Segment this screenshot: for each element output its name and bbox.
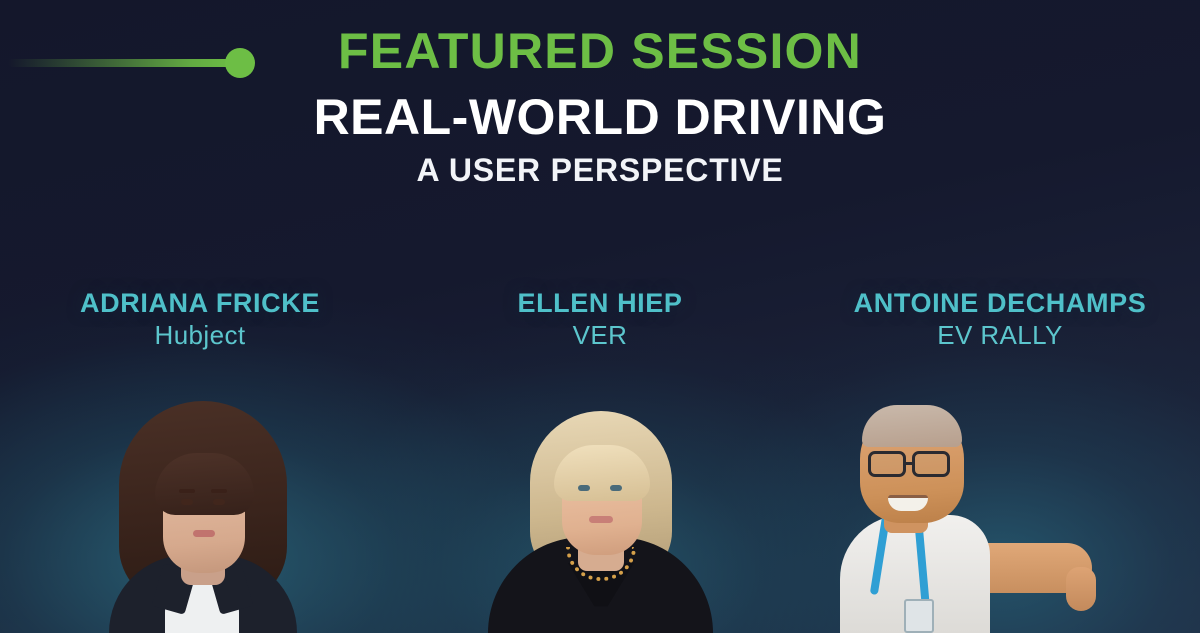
fringe-shape — [155, 453, 254, 515]
speaker-list: ADRIANA FRICKE Hubject — [0, 288, 1200, 633]
fringe-shape — [554, 445, 650, 501]
eye-right — [610, 485, 622, 491]
speaker-organization: Hubject — [0, 320, 400, 351]
hair-shape — [862, 405, 962, 447]
glasses-lens-right — [912, 451, 950, 477]
avatar-adriana-fricke — [95, 387, 310, 633]
eye-right — [213, 499, 225, 505]
avatar-antoine-dechamps — [840, 395, 1110, 633]
mouth-shape — [193, 530, 215, 537]
eye-left — [578, 485, 590, 491]
speaker-card-antoine-dechamps: ANTOINE DECHAMPS EV RALLY — [800, 288, 1200, 633]
glasses-lens-left — [868, 451, 906, 477]
mouth-shape — [888, 495, 928, 511]
speaker-portrait — [0, 373, 400, 633]
speaker-card-ellen-hiep: ELLEN HIEP VER — [400, 288, 800, 633]
speaker-name: ELLEN HIEP — [400, 288, 800, 319]
speaker-organization: EV RALLY — [800, 320, 1200, 351]
eye-left — [181, 499, 193, 505]
speaker-portrait — [800, 373, 1200, 633]
kicker-label: FEATURED SESSION — [0, 24, 1200, 78]
mouth-shape — [589, 516, 613, 523]
hand-shape — [1066, 567, 1096, 611]
eyebrow-left — [179, 489, 195, 493]
speaker-name: ADRIANA FRICKE — [0, 288, 400, 319]
page-subtitle: A USER PERSPECTIVE — [0, 153, 1200, 188]
page-title: REAL-WORLD DRIVING — [0, 90, 1200, 145]
speaker-name: ANTOINE DECHAMPS — [800, 288, 1200, 319]
avatar-ellen-hiep — [488, 399, 713, 633]
speaker-portrait — [400, 373, 800, 633]
glasses-bridge — [905, 462, 914, 465]
speaker-organization: VER — [400, 320, 800, 351]
header-block: FEATURED SESSION REAL-WORLD DRIVING A US… — [0, 0, 1200, 188]
badge-icon — [904, 599, 934, 633]
speaker-card-adriana-fricke: ADRIANA FRICKE Hubject — [0, 288, 400, 633]
eyebrow-right — [211, 489, 227, 493]
featured-session-banner: FEATURED SESSION REAL-WORLD DRIVING A US… — [0, 0, 1200, 633]
